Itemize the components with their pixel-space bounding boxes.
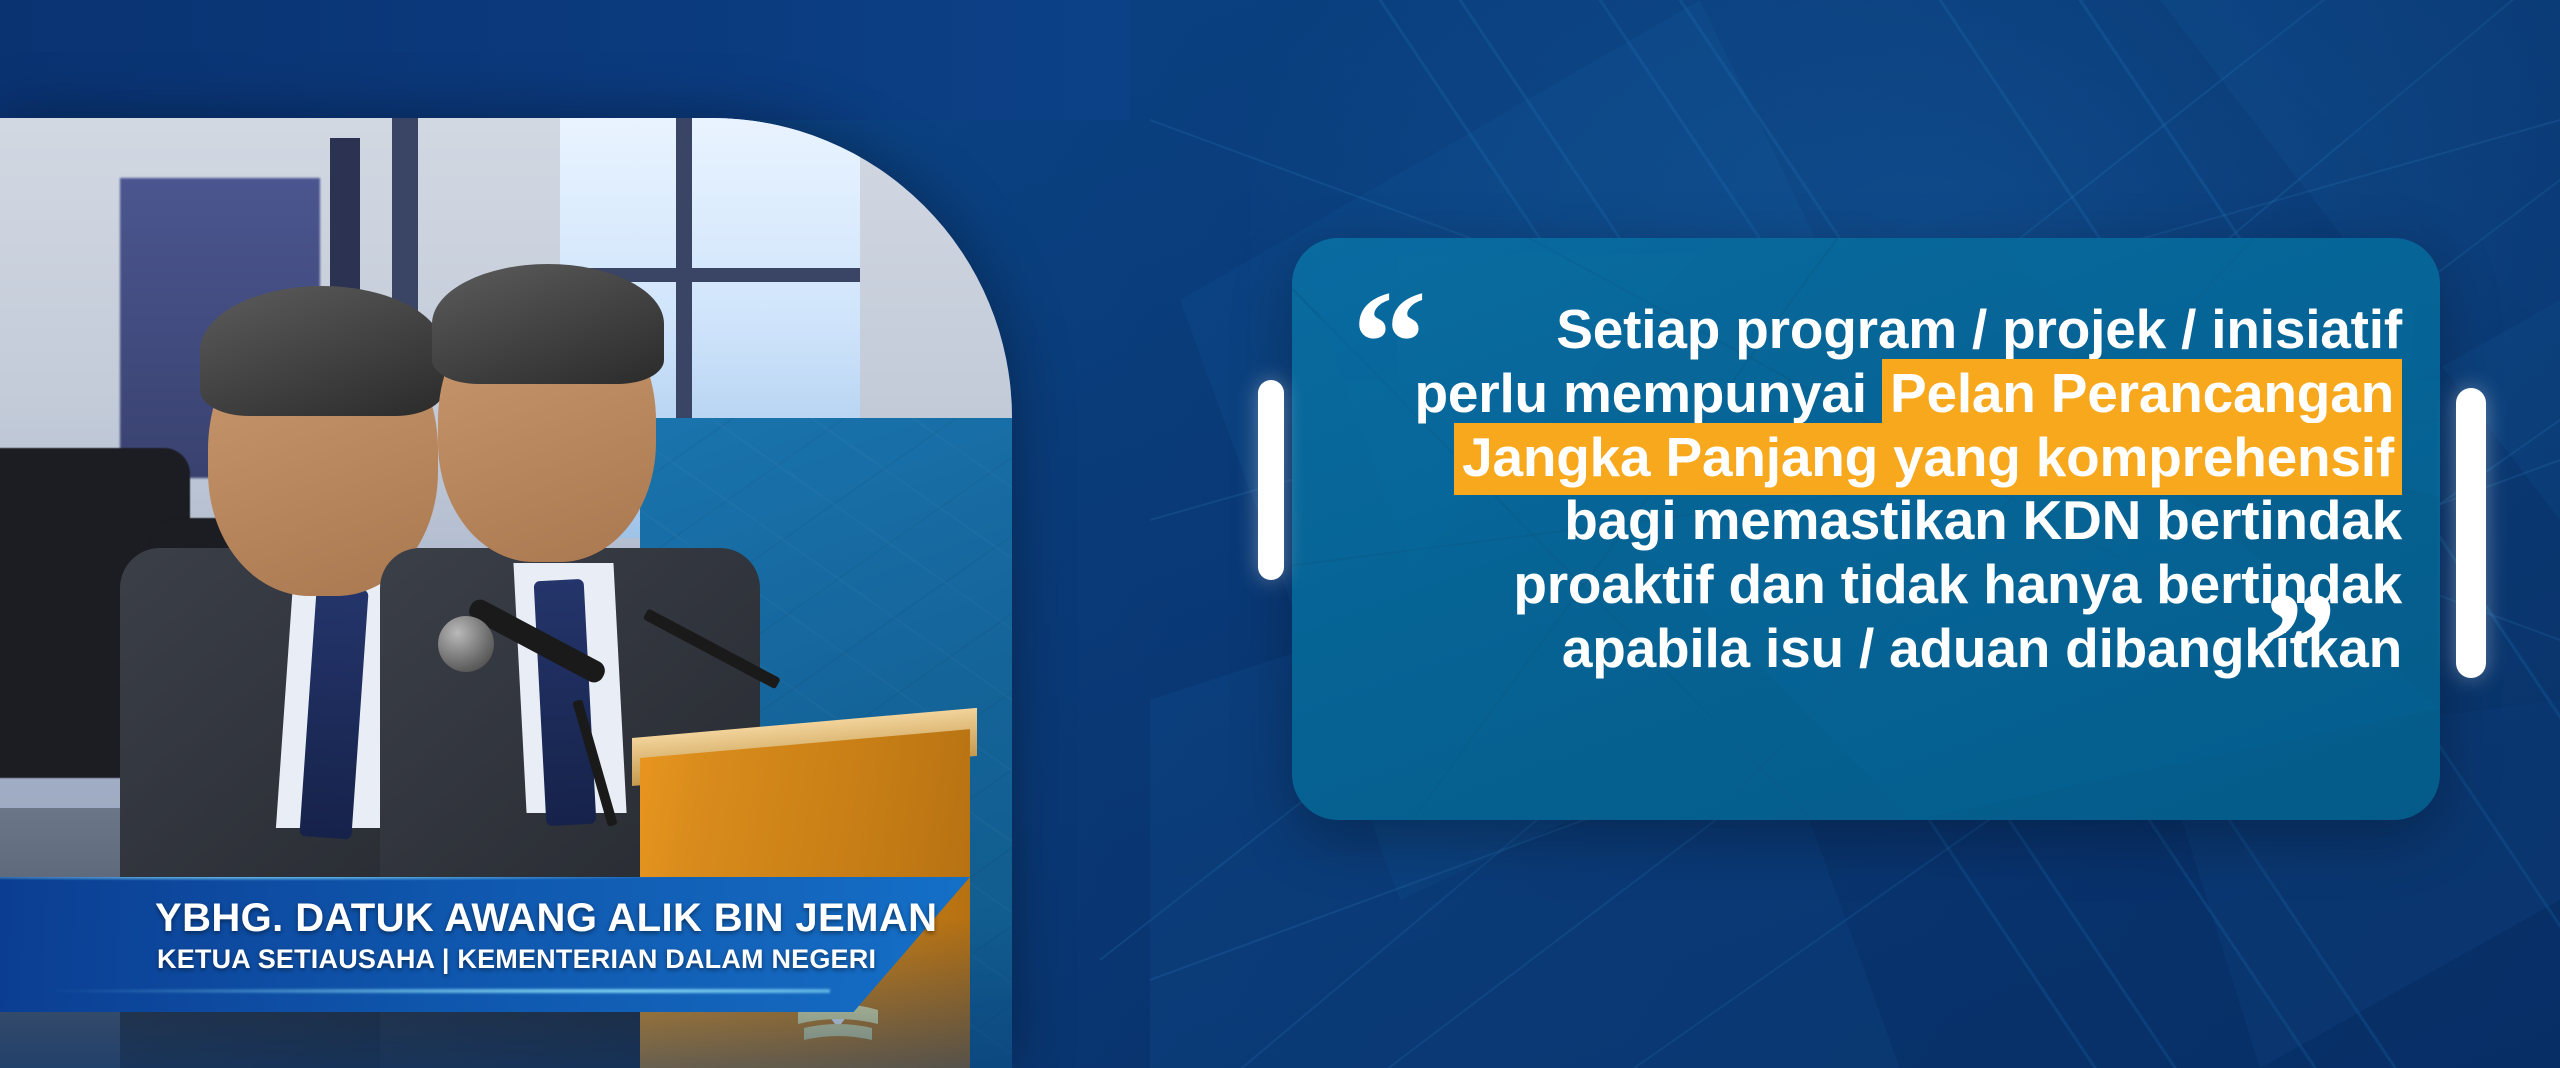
quote-line-3-highlight: Jangka Panjang yang komprehensif (1454, 423, 2402, 495)
top-navy-band (0, 0, 1130, 120)
quote-line-4: bagi memastikan KDN bertindak (1402, 489, 2402, 553)
accent-bar-left (1258, 380, 1284, 580)
quote-line-3: Jangka Panjang yang komprehensif (1402, 426, 2402, 490)
photo-person-speaking-hair (432, 264, 664, 384)
accent-bar-right (2456, 388, 2486, 678)
quote-line-2: perlu mempunyai Pelan Perancangan (1402, 362, 2402, 426)
quote-graphic-stage: YBHG. DATUK AWANG ALIK BIN JEMAN KETUA S… (0, 0, 2560, 1068)
banner-light-streak (40, 988, 830, 994)
quote-line-2-highlight: Pelan Perancangan (1882, 359, 2402, 431)
quote-line-1: Setiap program / projek / inisiatif (1402, 298, 2402, 362)
speaker-role: KETUA SETIAUSAHA | KEMENTERIAN DALAM NEG… (157, 944, 876, 975)
quote-text: Setiap program / projek / inisiatif perl… (1402, 298, 2402, 681)
quote-line-6: apabila isu / aduan dibangkitkan (1402, 617, 2402, 681)
quote-line-5: proaktif dan tidak hanya bertindak (1402, 553, 2402, 617)
microphone-head-icon (438, 616, 494, 672)
photo-person-seated-hair (200, 286, 444, 416)
speaker-name: YBHG. DATUK AWANG ALIK BIN JEMAN (155, 896, 937, 941)
quote-line-2-plain: perlu mempunyai (1414, 362, 1881, 424)
